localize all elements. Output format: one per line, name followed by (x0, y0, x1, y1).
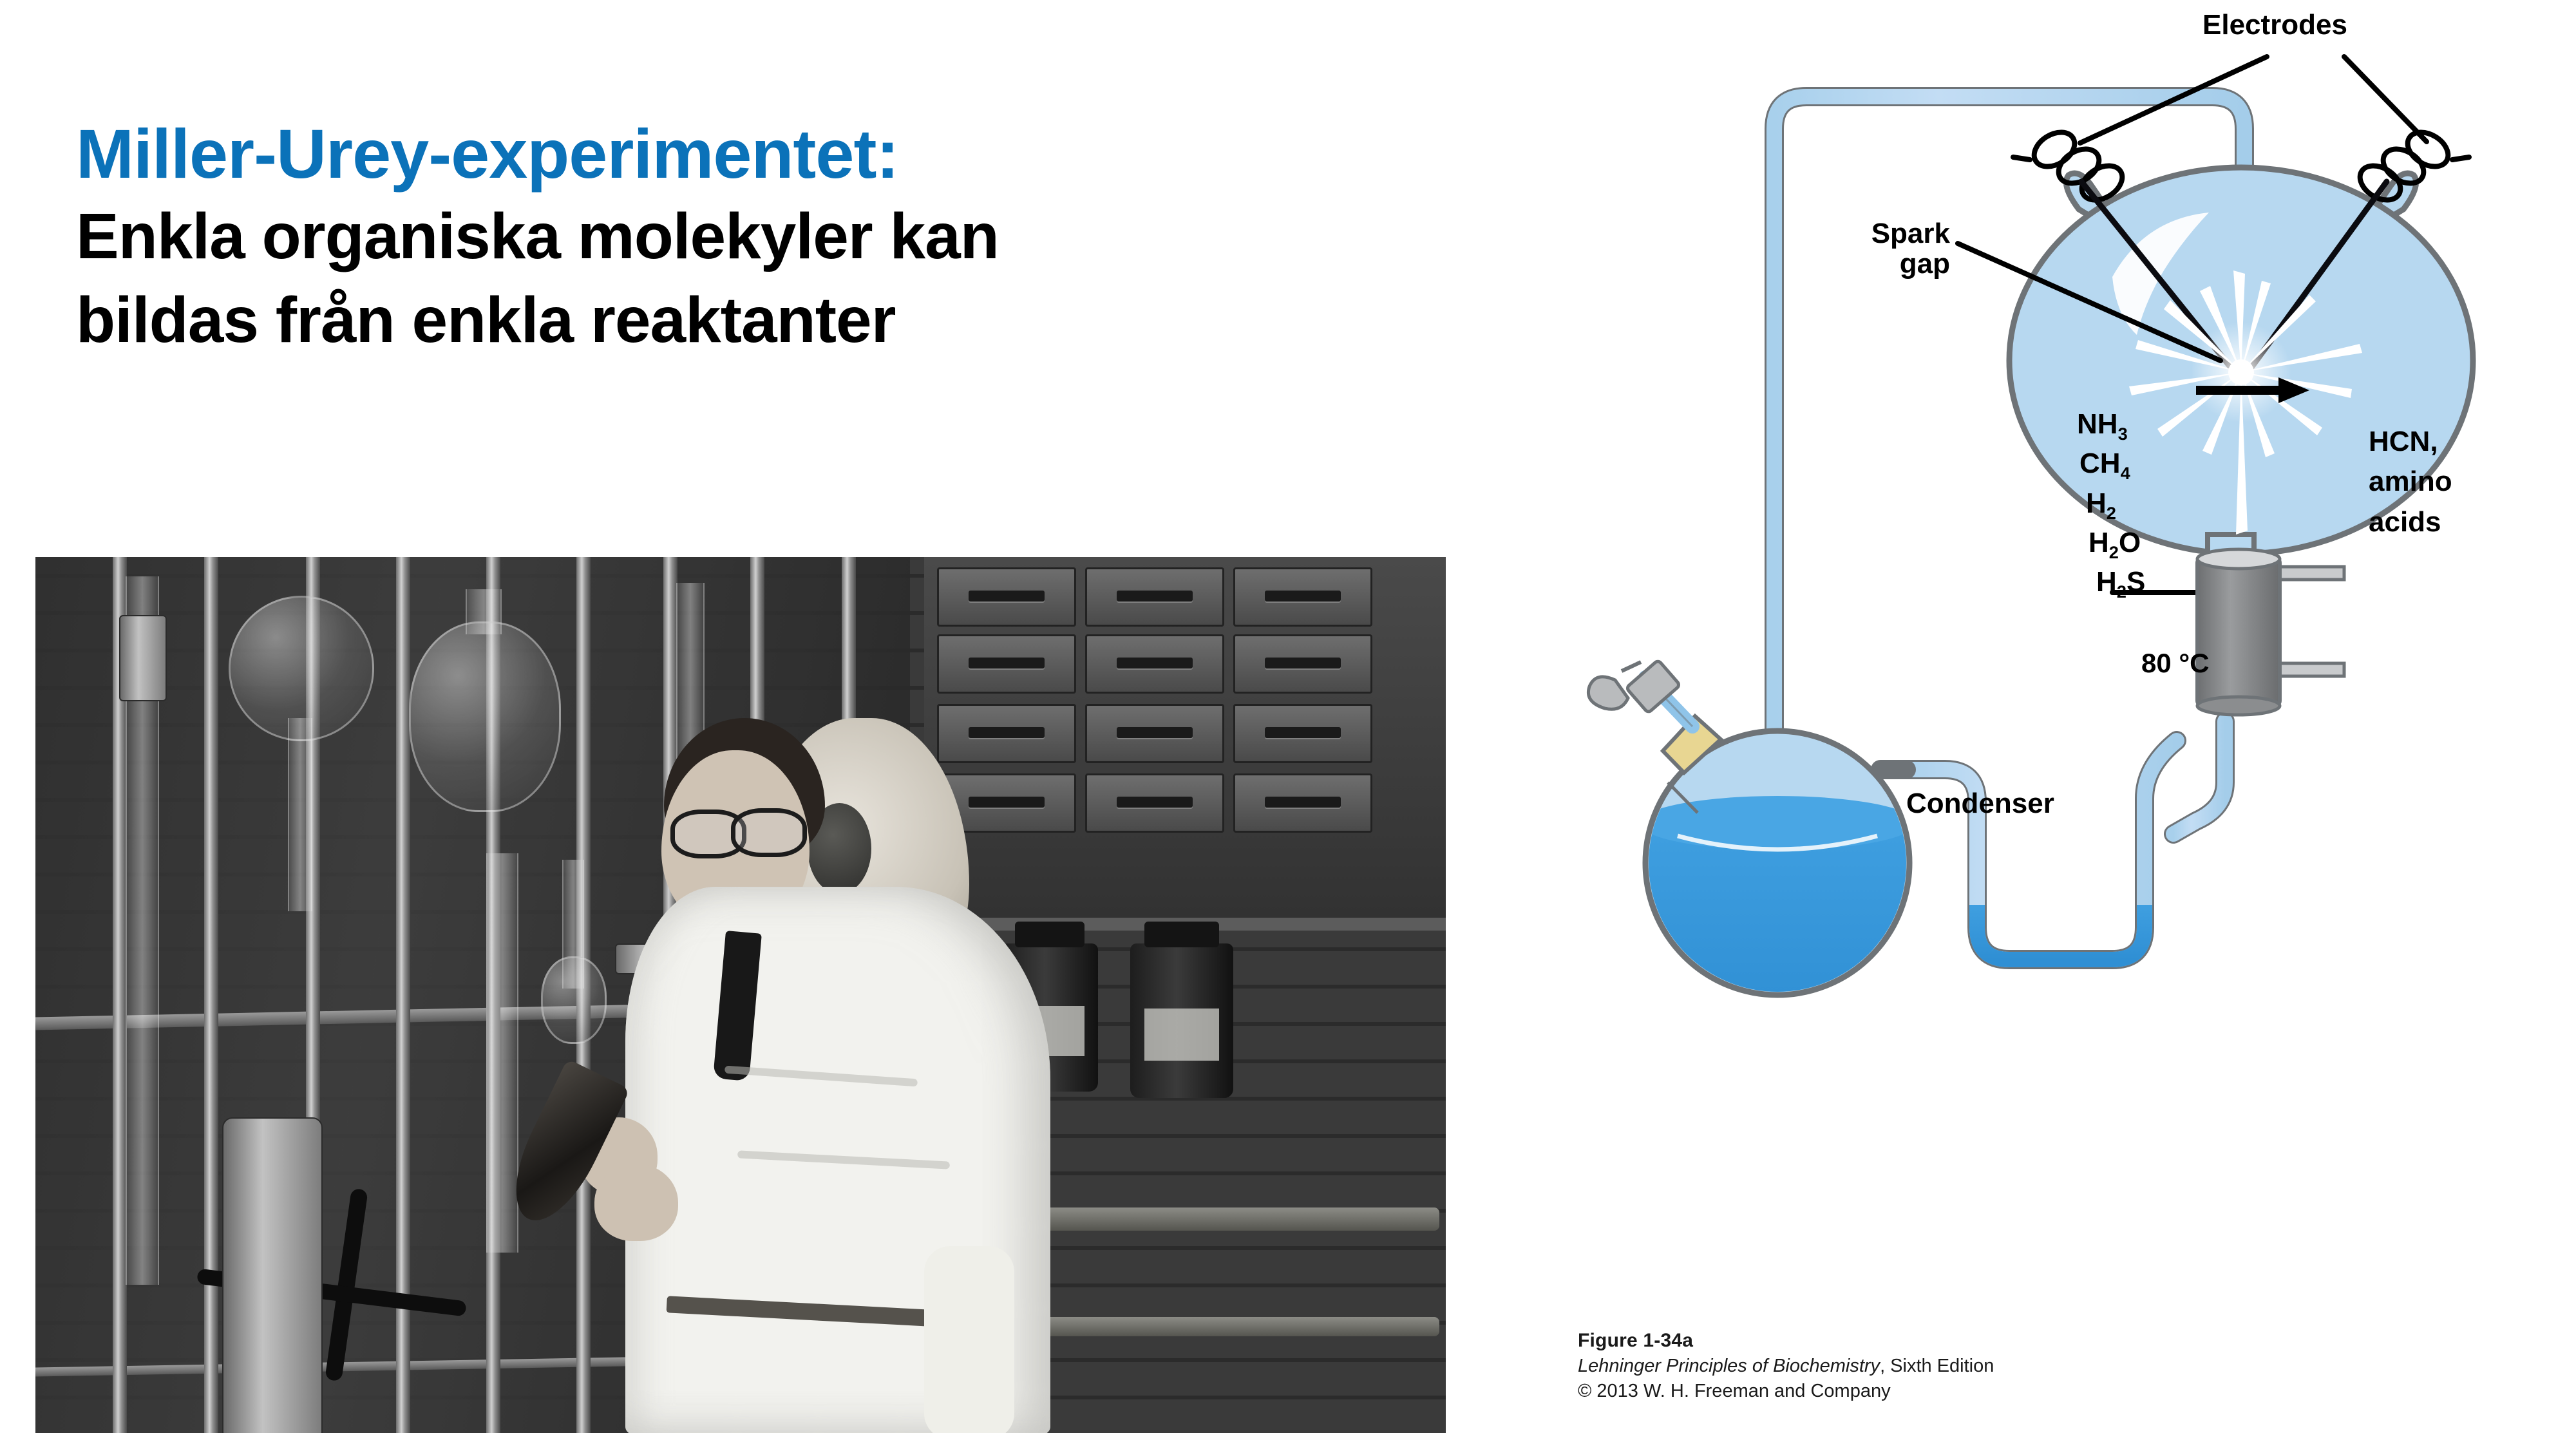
condenser-assembly (2197, 549, 2344, 715)
page-title: Miller-Urey-experimentet: (76, 113, 1300, 194)
miller-urey-photograph (35, 557, 1446, 1433)
label-spark-gap-line2: gap (1815, 249, 1950, 279)
photo-drawer (1233, 773, 1372, 833)
product-amino: amino (2369, 462, 2452, 502)
caption-book-title: Lehninger Principles of Biochemistry (1578, 1356, 1880, 1376)
figure-caption: Figure 1-34a Lehninger Principles of Bio… (1578, 1330, 1994, 1402)
condenser-body (2197, 558, 2280, 706)
condenser-inlet-arm (2273, 567, 2344, 580)
reactant-ammonia: NH3 (2077, 406, 2145, 445)
photo-scientist (512, 705, 1156, 1433)
photo-drawer (1233, 567, 1372, 627)
photo-gas-cylinder (222, 1117, 323, 1433)
caption-book-edition: , Sixth Edition (1880, 1356, 1994, 1376)
caption-copyright: © 2013 W. H. Freeman and Company (1578, 1381, 1994, 1402)
reactant-water: H2O (2088, 524, 2145, 563)
photo-glass-joint (119, 615, 167, 701)
photo-stand-rod (204, 557, 218, 1433)
photo-drawer (1085, 634, 1224, 694)
caption-figure-number: Figure 1-34a (1578, 1330, 1994, 1352)
apparatus-svg (1546, 0, 2576, 1288)
photo-drawer (1233, 704, 1372, 763)
photo-drawer (1233, 634, 1372, 694)
condenser-bottom-rim (2197, 697, 2280, 715)
condenser-outlet-arm (2273, 663, 2344, 676)
clamp-screw (1622, 662, 1641, 671)
label-electrodes: Electrodes (2202, 10, 2347, 41)
reactant-methane: CH4 (2079, 445, 2145, 484)
photo-scientist-hand (594, 1164, 678, 1241)
photo-coat-tail (924, 1246, 1014, 1433)
slide-subtitle-line1: Enkla organiska molekyler kan (76, 194, 1300, 278)
reactants-list: NH3 CH4 H2 H2O H2S (2077, 406, 2145, 603)
reactant-hydrogen-sulfide: H2S (2096, 563, 2145, 603)
label-condenser: Condenser (1906, 789, 2054, 819)
miller-urey-apparatus-diagram: Electrodes Spark gap Condenser 80 °C NH3… (1546, 0, 2576, 1449)
photo-flask-neck (288, 718, 312, 911)
slide-title-block: Miller-Urey-experimentet: Enkla organisk… (76, 113, 1300, 362)
slide-subtitle-line2: bildas från enkla reaktanter (76, 278, 1300, 362)
label-spark-gap: Spark gap (1815, 219, 1950, 279)
label-spark-gap-line1: Spark (1815, 219, 1950, 249)
photo-scientist-glasses (731, 808, 807, 857)
product-acids: acids (2369, 502, 2452, 542)
label-temperature: 80 °C (2141, 649, 2210, 678)
photo-flask-neck (466, 589, 502, 634)
clamp-handle (1588, 677, 1628, 709)
reactant-hydrogen: H2 (2086, 485, 2145, 524)
product-hcn: HCN, (2369, 422, 2452, 462)
caption-source: Lehninger Principles of Biochemistry, Si… (1578, 1356, 1994, 1377)
photo-drawer (1085, 567, 1224, 627)
condenser-top-rim (2197, 549, 2280, 569)
boiling-flask-water (1639, 796, 1919, 1016)
products-list: HCN, amino acids (2369, 422, 2452, 542)
photo-drawer (937, 634, 1076, 694)
photo-drawer (937, 567, 1076, 627)
